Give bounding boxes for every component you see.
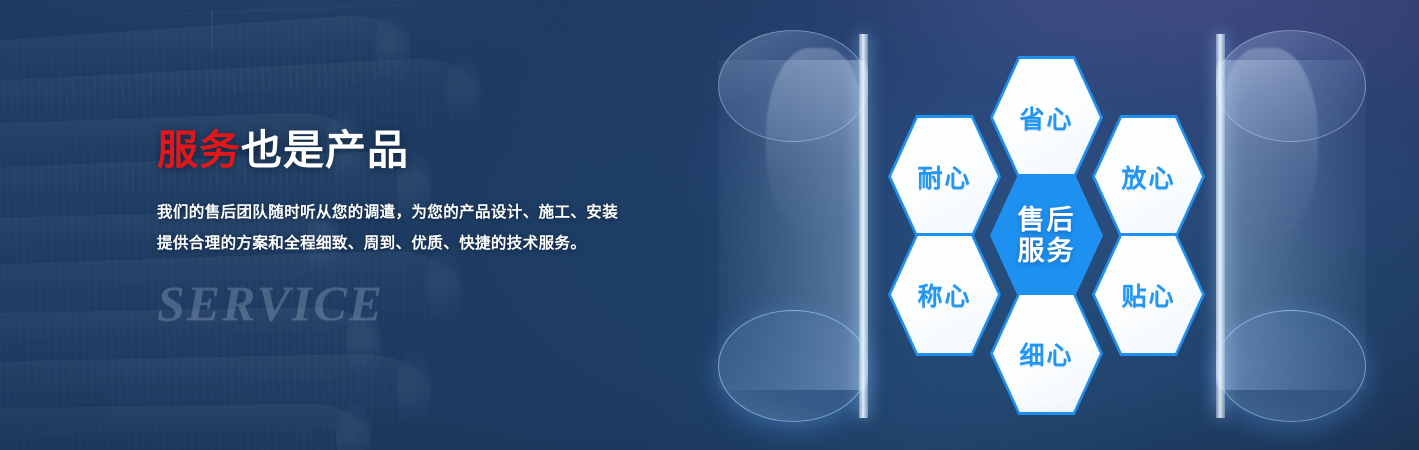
vignette-overlay [0, 0, 1419, 450]
service-banner: 服务也是产品 我们的售后团队随时听从您的调遣，为您的产品设计、施工、安装 提供合… [0, 0, 1419, 450]
